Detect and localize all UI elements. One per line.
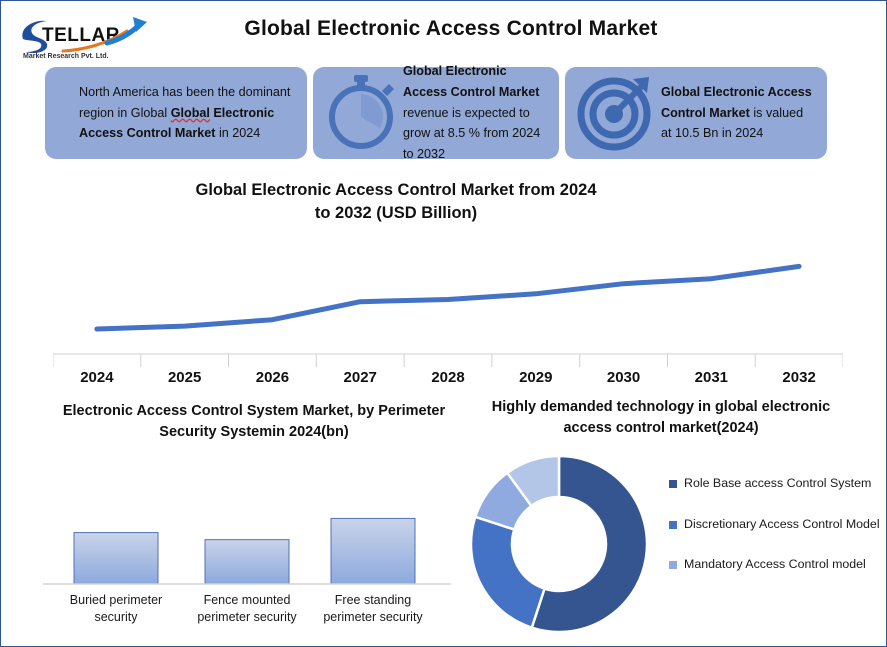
- fact-box-growth-text: Global Electronic Access Control Market …: [403, 61, 551, 165]
- svg-text:Market Research Pvt. Ltd.: Market Research Pvt. Ltd.: [23, 53, 109, 60]
- donut-slices: [471, 456, 647, 632]
- line-chart-x-label: 2025: [168, 369, 201, 386]
- line-chart-x-label: 2024: [80, 369, 114, 386]
- logo-graphic: TELLAR Market Research Pvt. Ltd.: [15, 13, 165, 61]
- fact-box-region-text: North America has been the dominant regi…: [79, 82, 297, 144]
- bar-chart-category-label: Buried perimeter: [70, 593, 162, 607]
- bar-chart-category-label: perimeter security: [323, 610, 423, 624]
- legend-item[interactable]: Mandatory Access Control model: [669, 556, 881, 574]
- legend-item[interactable]: Discretionary Access Control Model: [669, 516, 881, 534]
- line-chart-x-label: 2026: [256, 369, 289, 386]
- bar-chart-title: Electronic Access Control System Market,…: [59, 401, 449, 443]
- line-chart-x-label: 2027: [344, 369, 377, 386]
- target-icon: [571, 68, 661, 159]
- stopwatch-icon: [319, 69, 403, 158]
- legend-swatch: [669, 480, 677, 488]
- line-chart-x-label: 2030: [607, 369, 640, 386]
- bar-chart-bars: [74, 518, 415, 584]
- line-chart-series: [97, 266, 799, 329]
- line-chart-x-labels: 202420252026202720282029203020312032: [80, 369, 816, 386]
- legend-item[interactable]: Role Base access Control System: [669, 475, 881, 493]
- legend-label: Role Base access Control System: [684, 475, 871, 493]
- legend-label: Discretionary Access Control Model: [684, 516, 880, 534]
- line-chart-title: Global Electronic Access Control Market …: [186, 179, 606, 226]
- line-chart-x-label: 2032: [782, 369, 815, 386]
- bar-chart-category-label: perimeter security: [197, 610, 297, 624]
- bar-chart-svg: Buried perimetersecurityFence mountedper…: [43, 493, 451, 638]
- donut-legend: Role Base access Control SystemDiscretio…: [669, 475, 881, 597]
- line-chart-svg: 202420252026202720282029203020312032: [53, 249, 843, 389]
- line-chart-tick-marks: [53, 354, 843, 367]
- page-title: Global Electronic Access Control Market: [171, 17, 731, 41]
- legend-swatch: [669, 561, 677, 569]
- legend-swatch: [669, 521, 677, 529]
- bar-chart-bar: [74, 533, 158, 584]
- bar-chart-category-label: Free standing: [335, 593, 411, 607]
- fact-box-growth: Global Electronic Access Control Market …: [313, 67, 559, 159]
- bar-chart-bar: [205, 540, 289, 584]
- fact-box-value-text: Global Electronic Access Control Market …: [661, 82, 817, 144]
- donut-slice: [471, 517, 544, 628]
- infographic-page: TELLAR Market Research Pvt. Ltd. Global …: [0, 0, 887, 647]
- bar-chart-bar: [331, 518, 415, 584]
- bar-chart-category-label: Fence mounted: [204, 593, 291, 607]
- bar-chart-category-labels: Buried perimetersecurityFence mountedper…: [70, 593, 424, 624]
- line-chart-x-label: 2031: [695, 369, 728, 386]
- bar-chart: Buried perimetersecurityFence mountedper…: [43, 493, 451, 638]
- line-chart: 202420252026202720282029203020312032: [53, 249, 843, 389]
- legend-label: Mandatory Access Control model: [684, 556, 866, 574]
- donut-chart: [459, 444, 659, 644]
- fact-box-value: Global Electronic Access Control Market …: [565, 67, 827, 159]
- donut-chart-title: Highly demanded technology in global ele…: [489, 397, 833, 439]
- line-chart-x-label: 2029: [519, 369, 552, 386]
- fact-box-region: North America has been the dominant regi…: [45, 67, 307, 159]
- donut-chart-svg: [459, 444, 659, 644]
- stellar-logo: TELLAR Market Research Pvt. Ltd.: [15, 13, 165, 61]
- line-chart-x-label: 2028: [431, 369, 464, 386]
- bar-chart-category-label: security: [94, 610, 138, 624]
